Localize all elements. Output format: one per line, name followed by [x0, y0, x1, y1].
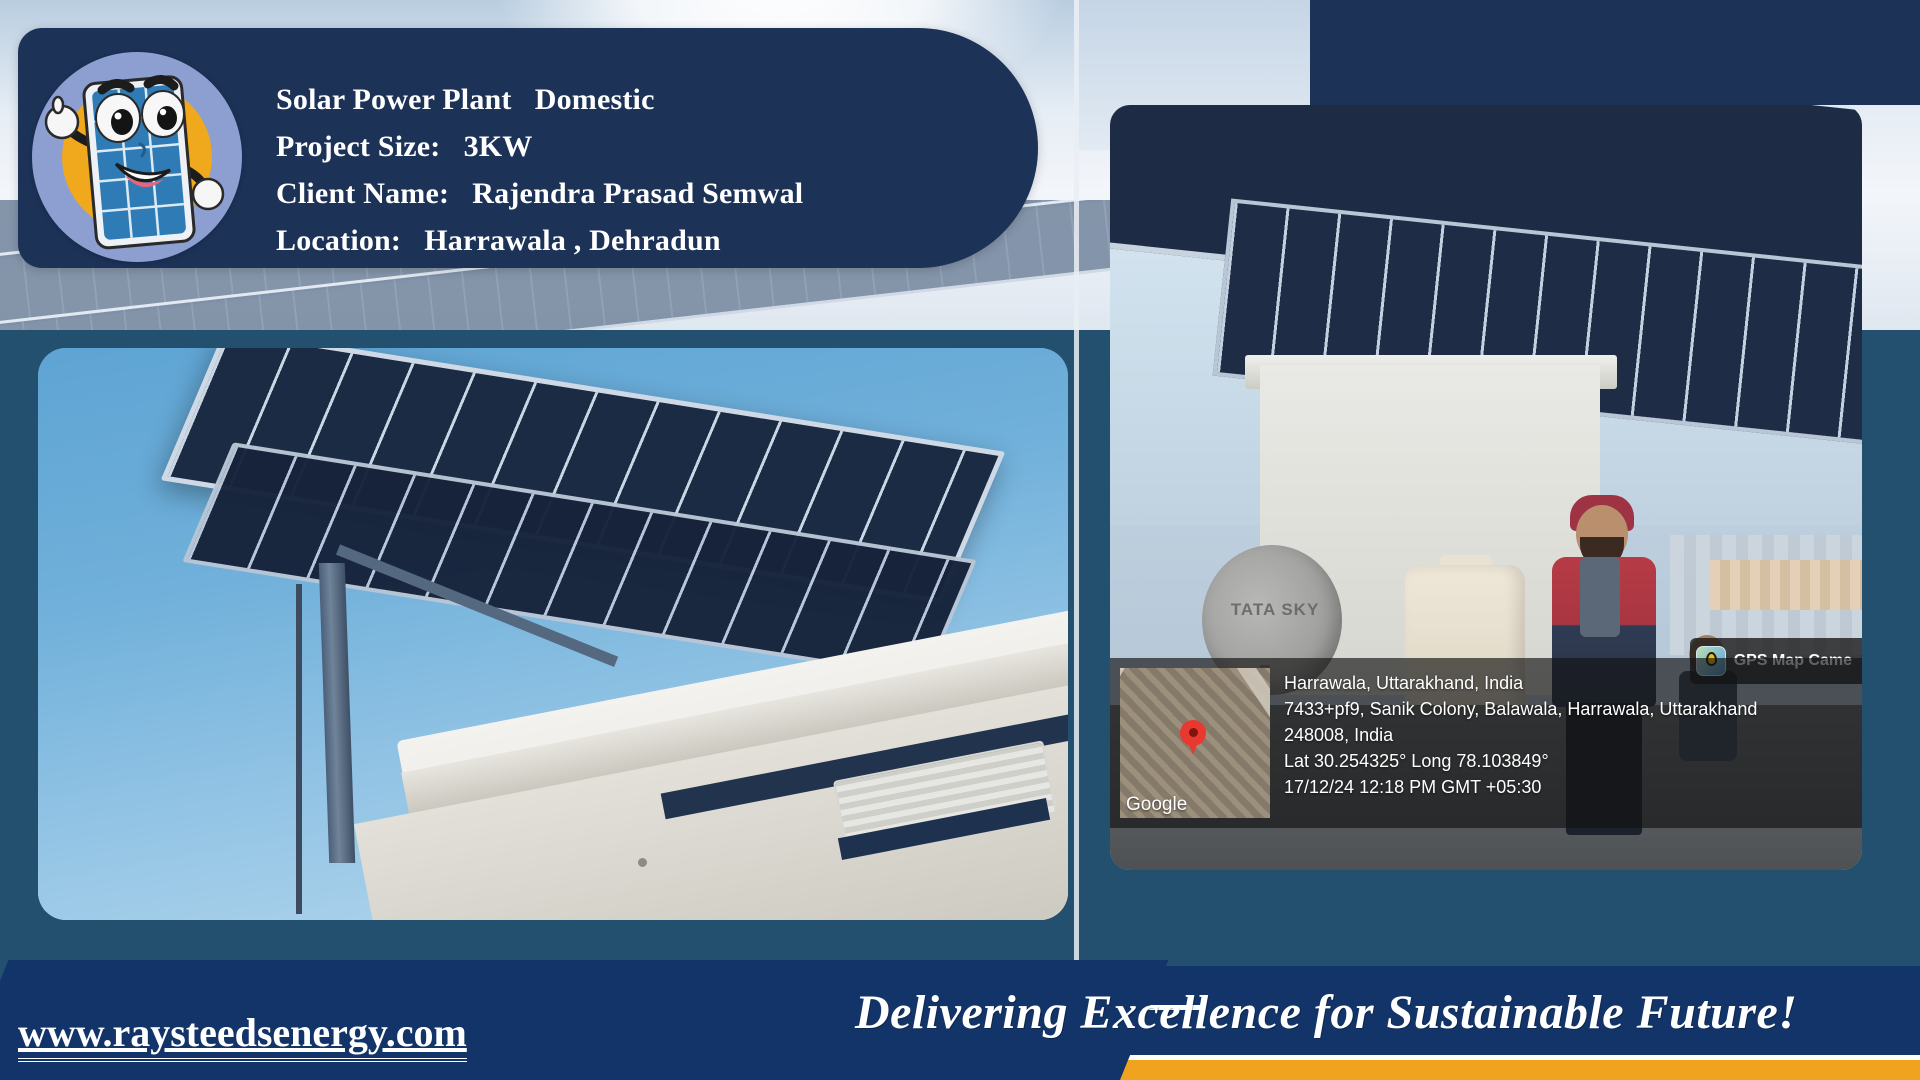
person-scarf — [1580, 557, 1620, 637]
header-panel: Solar Power Plant Domestic Project Size:… — [18, 28, 1038, 268]
solar-panel-mascot-icon — [32, 52, 242, 262]
detail-label: Project Size: — [276, 130, 440, 163]
project-photo-right: TATA SKY GPS Map Came Google — [1110, 105, 1862, 870]
gps-minimap: Google — [1120, 668, 1270, 818]
poster-canvas: Solar Power Plant Domestic Project Size:… — [0, 0, 1920, 1080]
gps-address-line-1: 7433+pf9, Sanik Colony, Balawala, Harraw… — [1284, 696, 1757, 722]
electrical-conduit — [296, 584, 302, 914]
gps-text-block: Harrawala, Uttarakhand, India 7433+pf9, … — [1280, 658, 1765, 828]
gps-coordinates: Lat 30.254325° Long 78.103849° — [1284, 748, 1757, 774]
detail-line-client-name: Client Name: Rajendra Prasad Semwal — [276, 170, 1016, 217]
detail-value: 3KW — [464, 130, 533, 163]
detail-label: Solar Power Plant — [276, 83, 512, 116]
detail-value: Domestic — [535, 83, 655, 116]
map-pin-icon — [1180, 720, 1206, 746]
detail-line-title: Solar Power Plant Domestic — [276, 76, 1016, 123]
satellite-dish-brand: TATA SKY — [1210, 600, 1340, 620]
wall-fixture — [638, 858, 647, 867]
website-link[interactable]: www.raysteedsenergy.com — [18, 1010, 467, 1062]
detail-line-location: Location: Harrawala , Dehradun — [276, 217, 1016, 264]
vertical-divider — [1074, 0, 1079, 980]
detail-line-project-size: Project Size: 3KW — [276, 123, 1016, 170]
project-details: Solar Power Plant Domestic Project Size:… — [276, 76, 1016, 264]
detail-label: Client Name: — [276, 177, 449, 210]
company-tagline: Delivering Excellence for Sustainable Fu… — [855, 985, 1798, 1040]
gps-address-line-2: 248008, India — [1284, 722, 1757, 748]
project-photo-left — [38, 348, 1068, 920]
minimap-road — [1230, 668, 1270, 818]
company-logo — [32, 52, 242, 262]
city-rooftops — [1710, 560, 1862, 610]
detail-value: Harrawala , Dehradun — [424, 224, 721, 257]
gps-info-overlay: Google Harrawala, Uttarakhand, India 743… — [1110, 658, 1862, 828]
gps-timestamp: 17/12/24 12:18 PM GMT +05:30 — [1284, 774, 1757, 800]
gps-place: Harrawala, Uttarakhand, India — [1284, 670, 1757, 696]
detail-value: Rajendra Prasad Semwal — [472, 177, 803, 210]
top-navy-block — [1310, 0, 1920, 105]
footer-banner: www.raysteedsenergy.com Delivering Excel… — [0, 960, 1920, 1080]
google-attribution: Google — [1126, 794, 1187, 816]
detail-label: Location: — [276, 224, 401, 257]
